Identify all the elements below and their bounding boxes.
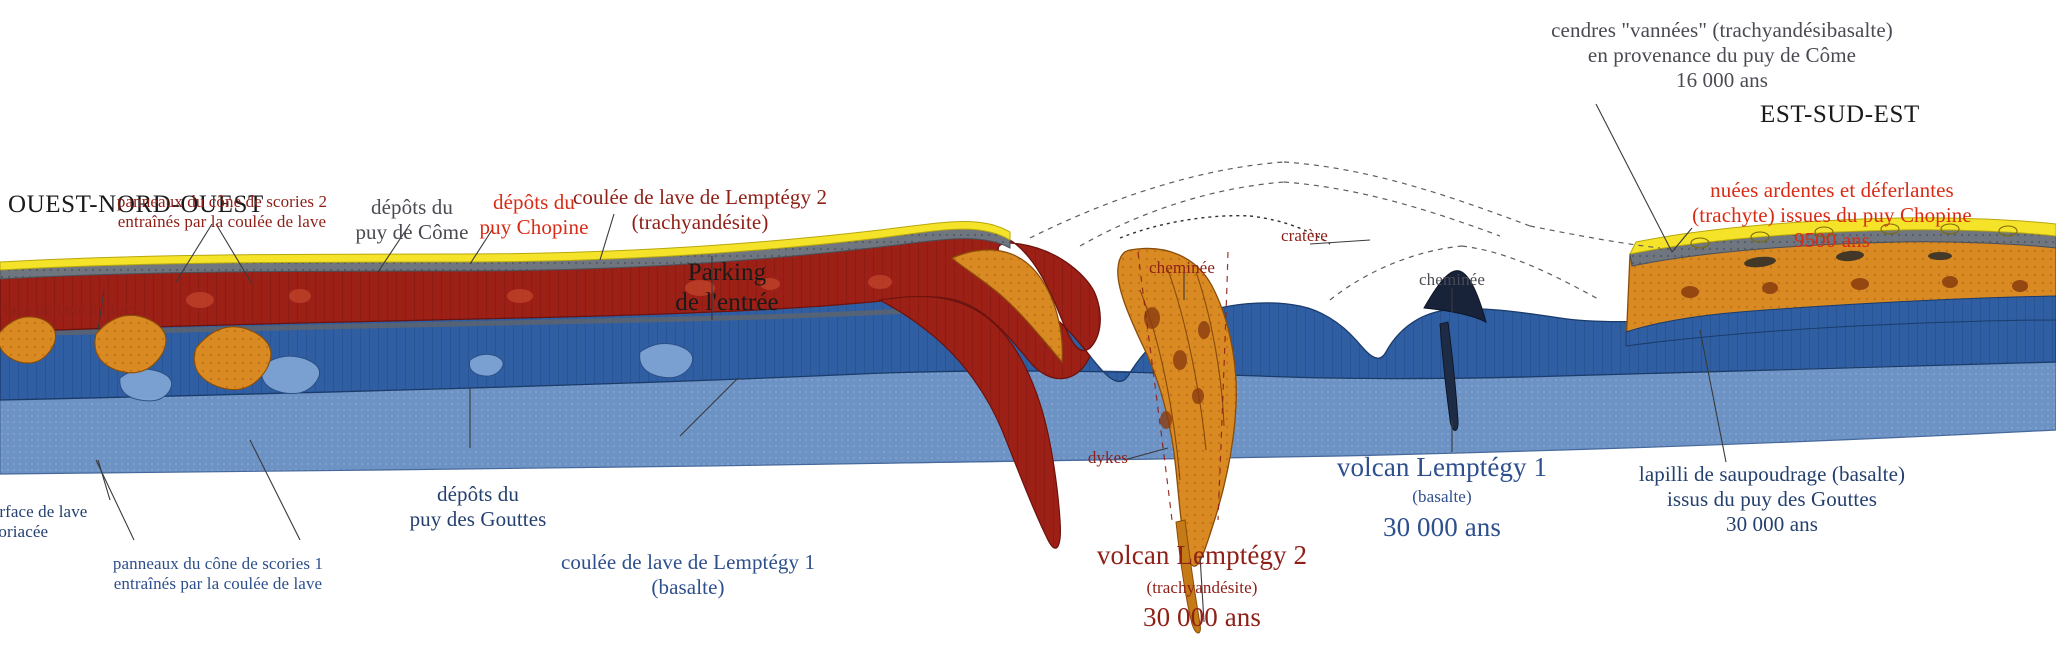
volcano-2-age: 30 000 ans xyxy=(1143,602,1261,634)
label-coulee-lave-lemptegy-1: coulée de lave de Lemptégy 1 (basalte) xyxy=(561,550,815,600)
label-cheminee-right: cheminée xyxy=(1419,270,1485,290)
volcano-2-rock-type: (trachyandésite) xyxy=(1146,578,1257,598)
label-cratere: cratère xyxy=(1281,226,1328,246)
volcano-1-age: 30 000 ans xyxy=(1383,512,1501,544)
label-parking-entree: Parking de l'entrée xyxy=(675,258,778,317)
label-depots-puy-des-gouttes: dépôts du puy des Gouttes xyxy=(410,482,547,532)
cross-section-figure: OUEST-NORD-OUEST EST-SUD-EST panneaux du… xyxy=(0,0,2056,662)
label-surface-lave-scoriacee: surface de lave scoriacée xyxy=(0,502,87,542)
label-panneaux-cone-scories-2: panneaux du cône de scories 2 entraînés … xyxy=(117,192,327,232)
label-depots-puy-de-come: dépôts du puy de Côme xyxy=(355,195,468,245)
orientation-label-east: EST-SUD-EST xyxy=(1760,100,1920,130)
label-lapilli-saupoudrage: lapilli de saupoudrage (basalte) issus d… xyxy=(1639,462,1905,536)
label-nuees-ardentes: nuées ardentes et déferlantes (trachyte)… xyxy=(1692,178,1972,252)
label-cendres-vannees: cendres "vannées" (trachyandésibasalte) … xyxy=(1551,18,1893,92)
label-panneaux-cone-scories-1: panneaux du cône de scories 1 entraînés … xyxy=(113,554,323,594)
label-dykes: dykes xyxy=(1088,448,1128,468)
volcano-1-name: volcan Lemptégy 1 xyxy=(1337,452,1547,484)
label-coulee-lave-lemptegy-2: coulée de lave de Lemptégy 2 (trachyandé… xyxy=(573,185,827,235)
volcano-1-rock-type: (basalte) xyxy=(1412,487,1471,507)
label-cheminee-left: cheminée xyxy=(1149,258,1215,278)
volcano-2-name: volcan Lemptégy 2 xyxy=(1097,540,1307,572)
label-surface-lave-a-blocs: surface de lave à blocs xyxy=(0,300,138,320)
